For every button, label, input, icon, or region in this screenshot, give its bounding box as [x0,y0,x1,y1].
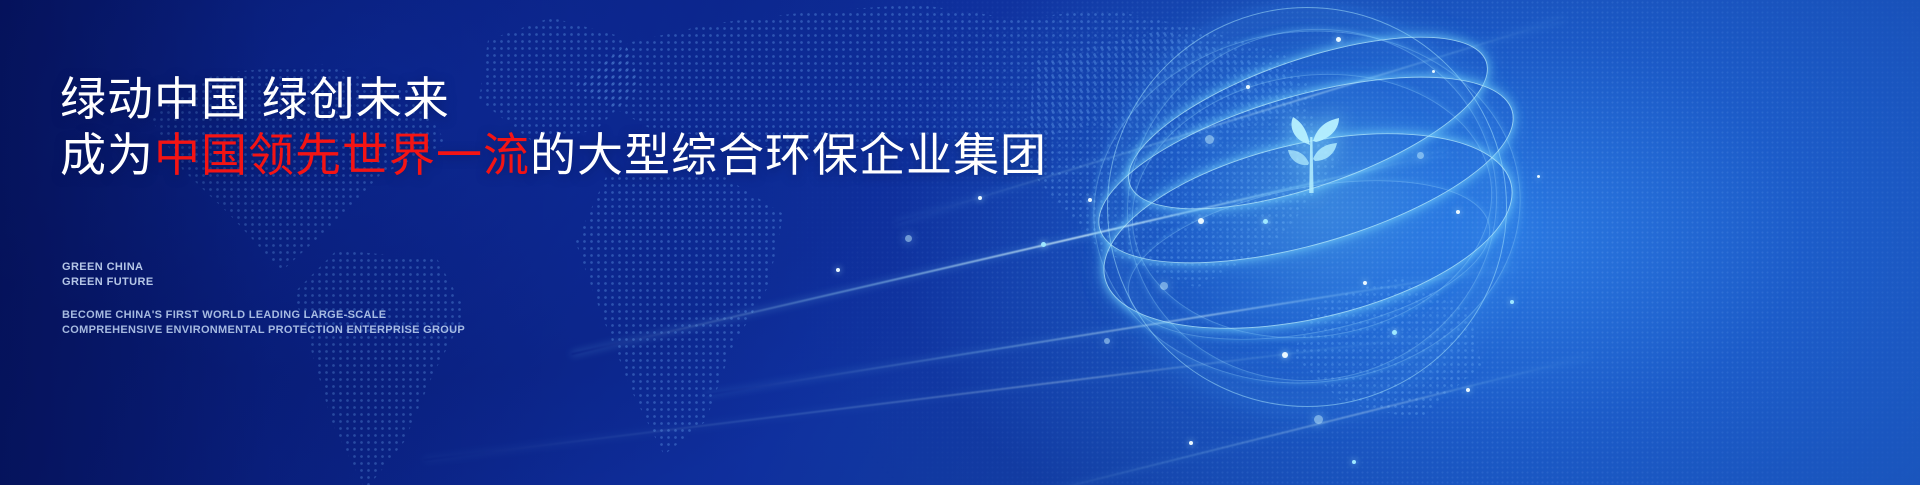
headline-line-2: 成为中国领先世界一流的大型综合环保企业集团 [60,132,1047,178]
globe-orbit-ring [1114,153,1503,367]
globe-sphere-outline [1107,7,1507,407]
globe-glow [1095,0,1515,420]
globe-orbit-ring [1108,1,1507,245]
sprout-icon [1263,101,1359,193]
headline-prefix: 成为 [60,129,154,181]
globe-orbit-ring [1079,39,1534,302]
slogan-line-1: GREEN CHINA [62,260,154,275]
banner-copy: 绿动中国 绿创未来 成为中国领先世界一流的大型综合环保企业集团 GREEN CH… [60,0,1060,485]
light-trail [989,355,1591,485]
headline-highlight: 中国领先世界一流 [154,129,530,181]
description-line-2: COMPREHENSIVE ENVIRONMENTAL PROTECTION E… [62,323,465,338]
headline-suffix: 的大型综合环保企业集团 [530,129,1047,181]
headline-line-1: 绿动中国 绿创未来 [60,76,450,122]
slogan-english: GREEN CHINA GREEN FUTURE [62,260,154,290]
description-english: BECOME CHINA'S FIRST WORLD LEADING LARGE… [62,308,465,338]
globe-orbit-ring [1076,10,1538,405]
globe-orbit-ring [1115,51,1510,361]
slogan-line-2: GREEN FUTURE [62,275,154,290]
description-line-1: BECOME CHINA'S FIRST WORLD LEADING LARGE… [62,308,465,323]
globe-orbit-ring [1085,98,1532,364]
globe-orbit-ring [1081,0,1543,429]
globe-graphic [1085,0,1525,475]
map-region-oceania [1280,270,1490,440]
hero-banner: 绿动中国 绿创未来 成为中国领先世界一流的大型综合环保企业集团 GREEN CH… [0,0,1920,485]
